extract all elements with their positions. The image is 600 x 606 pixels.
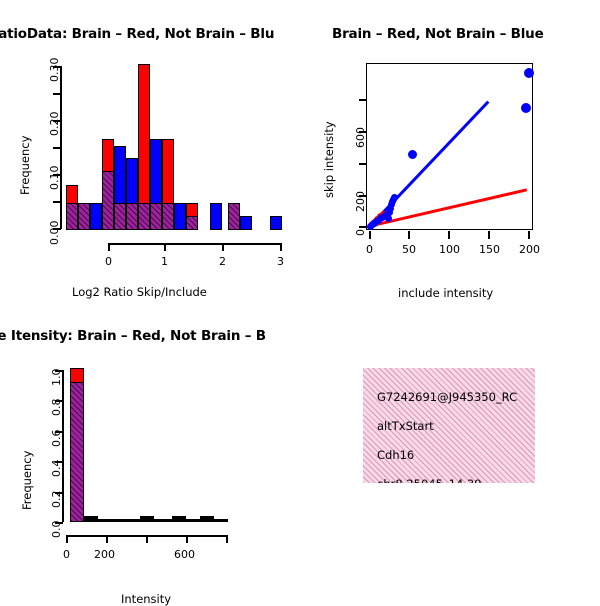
ratio-y-label-000: 0.00: [48, 221, 61, 246]
ratio-y-tick-025: [53, 93, 61, 95]
intensity-bar-tiny: [200, 516, 214, 522]
ratio-bar-purple: [186, 216, 198, 230]
ratio-bar-purple: [162, 203, 174, 230]
panel-annotation: G7242691@J945350_RC altTxStart Cdh16 chr…: [300, 310, 600, 600]
ratio-bar-purple: [150, 203, 162, 230]
intensity-bar-tiny: [154, 519, 172, 522]
panel-ratio-xlabel: Log2 Ratio Skip/Include: [72, 285, 207, 299]
intensity-bar-purple: [70, 382, 84, 522]
intensity-x-tick-200: [106, 535, 108, 543]
panel-scatter-xlabel: include intensity: [398, 286, 493, 300]
ratio-bar-blue: [240, 216, 252, 230]
annotation-event-type: altTxStart: [377, 419, 434, 433]
intensity-x-label-600: 600: [174, 548, 195, 561]
panel-scatter-title: Brain – Red, Not Brain – Blue: [332, 26, 544, 42]
intensity-x-label-0: 0: [63, 548, 70, 561]
intensity-y-label-08: 0.8: [50, 399, 63, 417]
intensity-bar-tiny: [172, 516, 186, 522]
ratio-y-label-010: 0.10: [48, 166, 61, 191]
annotation-gene-symbol: Cdh16: [377, 448, 414, 462]
ratio-bar-purple: [114, 203, 126, 230]
scatter-y-label-600: 600: [354, 127, 367, 148]
intensity-x-label-200: 200: [94, 548, 115, 561]
ratio-x-label-3: 3: [277, 255, 284, 268]
scatter-x-tick-100: [448, 231, 450, 239]
scatter-point-not-brain: [521, 103, 531, 113]
ratio-bar-purple: [228, 203, 240, 230]
ratio-bar-blue: [270, 216, 282, 230]
scatter-x-tick-50: [408, 231, 410, 239]
panel-intensity-xlabel: Intensity: [121, 592, 171, 606]
scatter-y-label-0: 0: [354, 229, 367, 236]
scatter-y-tick-400: [359, 163, 367, 165]
ratio-y-label-030: 0.30: [48, 58, 61, 83]
panel-scatter-ylabel: skip intensity: [322, 121, 336, 198]
panel-ratio-title: RatioData: Brain – Red, Not Brain – Blu: [0, 26, 274, 42]
scatter-y-label-200: 200: [354, 191, 367, 212]
scatter-x-label-150: 150: [479, 243, 500, 256]
intensity-bar-tiny: [98, 519, 140, 522]
intensity-x-tick-800: [226, 535, 228, 543]
ratio-bar-purple: [78, 203, 90, 230]
ratio-x-tick-1: [164, 243, 166, 251]
scatter-x-tick-200: [528, 231, 530, 239]
intensity-bar-tiny: [140, 516, 154, 522]
ratio-bar-purple: [138, 203, 150, 230]
scatter-x-label-200: 200: [519, 243, 540, 256]
ratio-y-label-020: 0.20: [48, 112, 61, 137]
scatter-x-label-0: 0: [366, 243, 373, 256]
ratio-x-label-2: 2: [219, 255, 226, 268]
ratio-bar-purple: [66, 203, 78, 230]
annotation-locus: chr8.25045–14.39: [377, 477, 482, 483]
panel-scatter: Brain – Red, Not Brain – Blue skip inten…: [300, 0, 600, 310]
scatter-point-not-brain: [391, 194, 398, 201]
ratio-y-tick-005: [53, 201, 61, 203]
ratio-x-tick-3: [280, 243, 282, 251]
panel-intensity-ylabel: Frequency: [20, 451, 34, 510]
panel-ratio-histogram: RatioData: Brain – Red, Not Brain – Blu …: [0, 0, 300, 310]
intensity-y-label-06: 0.6: [50, 430, 63, 448]
scatter-point-not-brain: [524, 68, 534, 78]
ratio-x-label-0: 0: [105, 255, 112, 268]
annotation-probe-id: G7242691@J945350_RC: [377, 390, 517, 404]
annotation-box: G7242691@J945350_RC altTxStart Cdh16 chr…: [363, 368, 535, 483]
intensity-y-label-00: 0.0: [50, 521, 63, 539]
scatter-x-label-50: 50: [402, 243, 416, 256]
intensity-y-label-10: 1.0: [50, 369, 63, 387]
ratio-bar-blue: [90, 203, 102, 230]
ratio-bar-purple: [126, 203, 138, 230]
panel-intensity-title: ne Itensity: Brain – Red, Not Brain – B: [0, 328, 266, 344]
panel-ratio-ylabel: Frequency: [18, 136, 32, 195]
scatter-x-label-100: 100: [439, 243, 460, 256]
intensity-y-label-04: 0.4: [50, 460, 63, 478]
scatter-y-tick-800: [359, 99, 367, 101]
ratio-x-axis: [108, 243, 282, 245]
ratio-y-tick-015: [53, 147, 61, 149]
intensity-x-tick-0: [66, 535, 68, 543]
scatter-y-tick-0: [359, 226, 367, 228]
intensity-y-label-02: 0.2: [50, 491, 63, 509]
intensity-bar-tiny: [84, 516, 98, 522]
scatter-point-not-brain: [385, 215, 392, 222]
intensity-bar-tiny: [186, 519, 200, 522]
panel-intensity-histogram: ne Itensity: Brain – Red, Not Brain – B …: [0, 310, 300, 600]
ratio-bar-blue: [174, 203, 186, 230]
scatter-point-not-brain: [408, 150, 417, 159]
scatter-x-tick-150: [488, 231, 490, 239]
ratio-x-label-1: 1: [161, 255, 168, 268]
ratio-x-tick-0: [108, 243, 110, 251]
ratio-bar-blue: [210, 203, 222, 230]
ratio-bar-purple: [102, 171, 114, 230]
intensity-x-tick-400: [146, 535, 148, 543]
scatter-x-tick-0: [369, 231, 371, 239]
ratio-x-tick-2: [222, 243, 224, 251]
intensity-bar-tiny: [214, 519, 228, 522]
intensity-x-tick-600: [186, 535, 188, 543]
